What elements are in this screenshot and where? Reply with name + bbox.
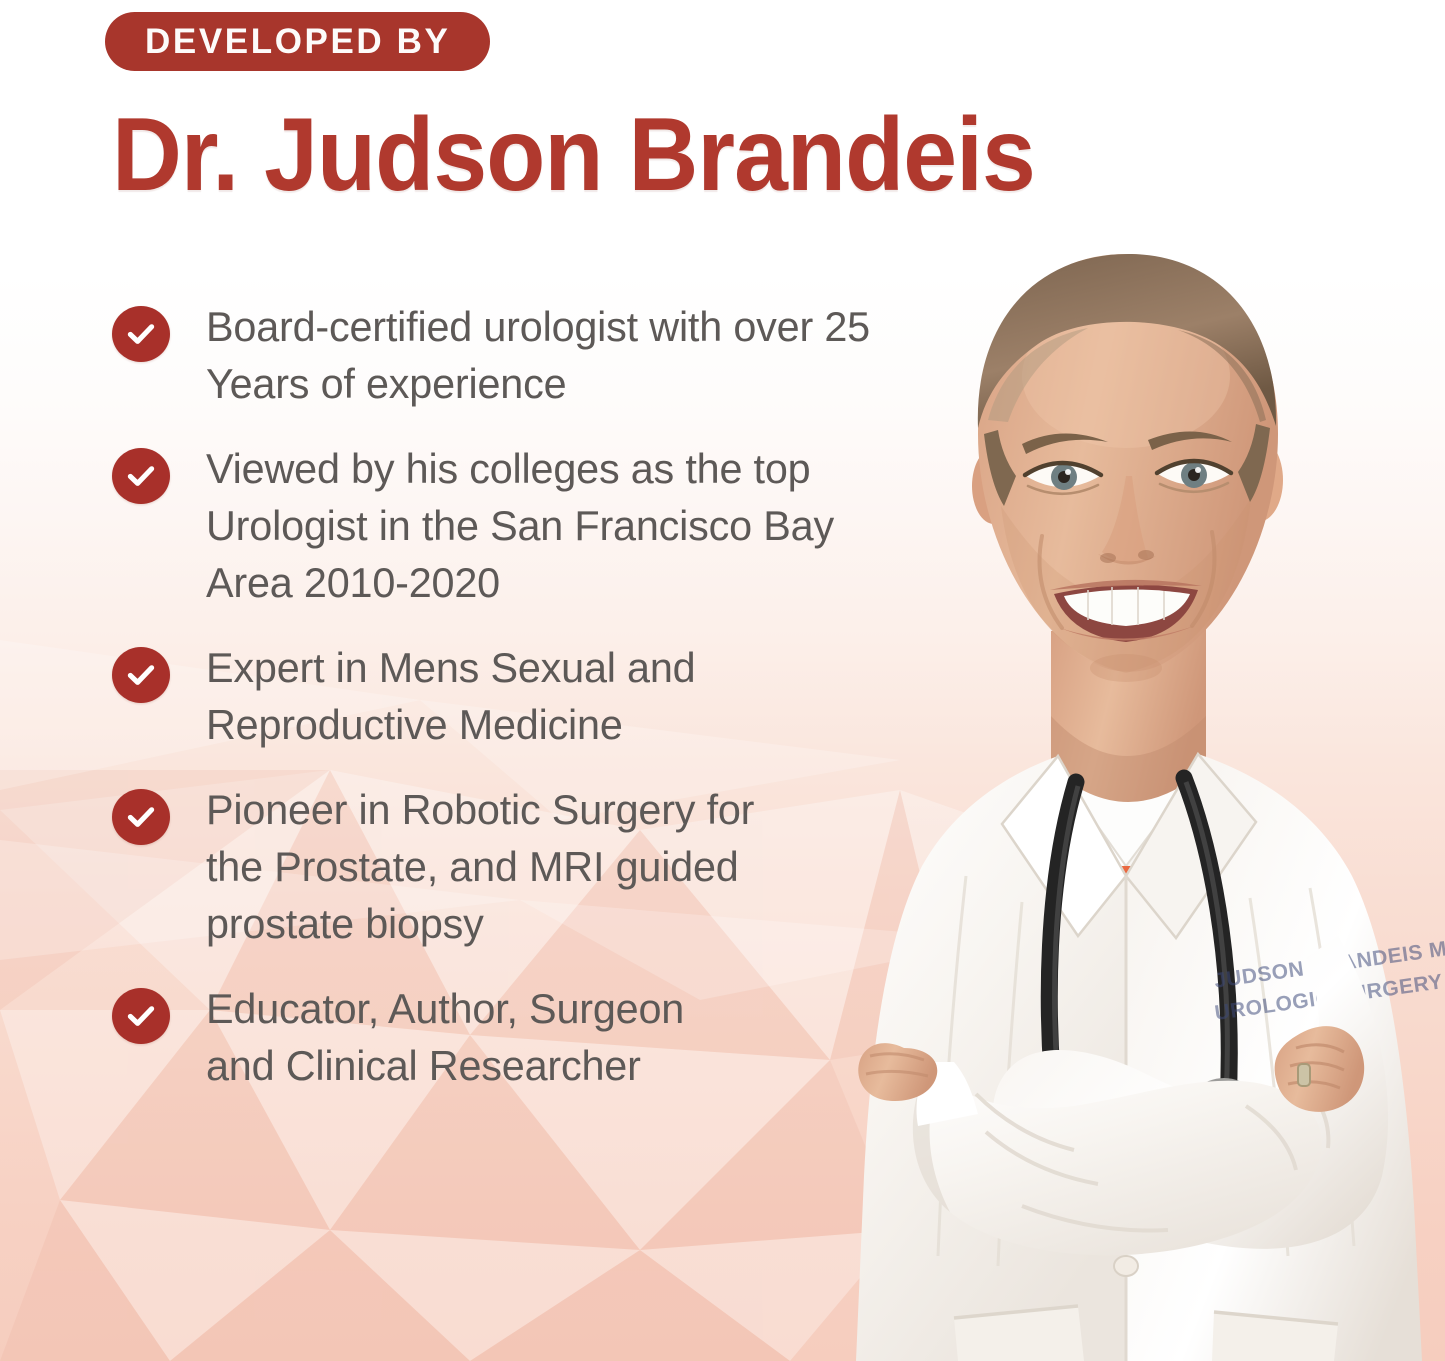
developed-by-label: DEVELOPED BY [145, 22, 450, 62]
check-circle-icon [112, 448, 170, 504]
check-circle-icon [112, 789, 170, 845]
check-circle-icon [112, 647, 170, 703]
check-circle-icon [112, 988, 170, 1044]
doctor-portrait-photo: JUDSON BRANDEIS MD UROLOGIC SURGERY [826, 176, 1445, 1361]
developed-by-badge: DEVELOPED BY [105, 12, 490, 71]
infographic-card: DEVELOPED BY Dr. Judson Brandeis Board-c… [0, 0, 1445, 1361]
check-circle-icon [112, 306, 170, 362]
